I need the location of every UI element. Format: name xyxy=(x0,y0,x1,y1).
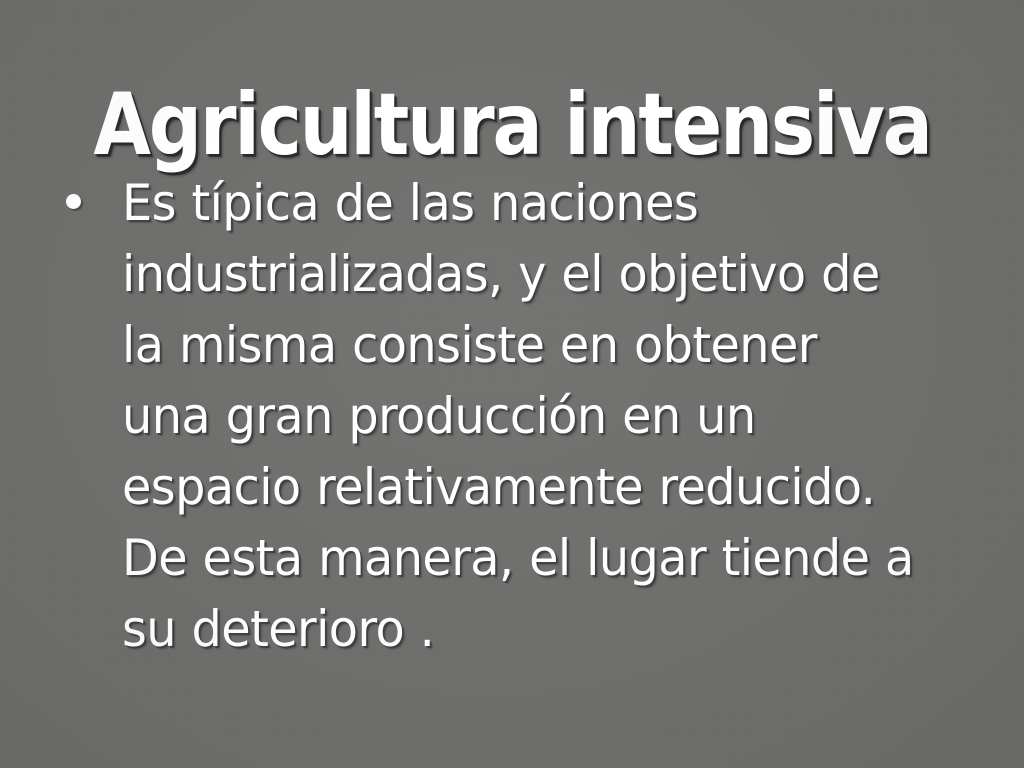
list-item: Es típica de las naciones industrializad… xyxy=(58,168,958,665)
bullet-dot-icon xyxy=(66,194,81,209)
slide-body: Es típica de las naciones industrializad… xyxy=(58,168,958,665)
presentation-slide: Agricultura intensiva Es típica de las n… xyxy=(0,0,1024,768)
bullet-text: Es típica de las naciones industrializad… xyxy=(122,168,920,665)
page-title: Agricultura intensiva xyxy=(93,82,930,168)
